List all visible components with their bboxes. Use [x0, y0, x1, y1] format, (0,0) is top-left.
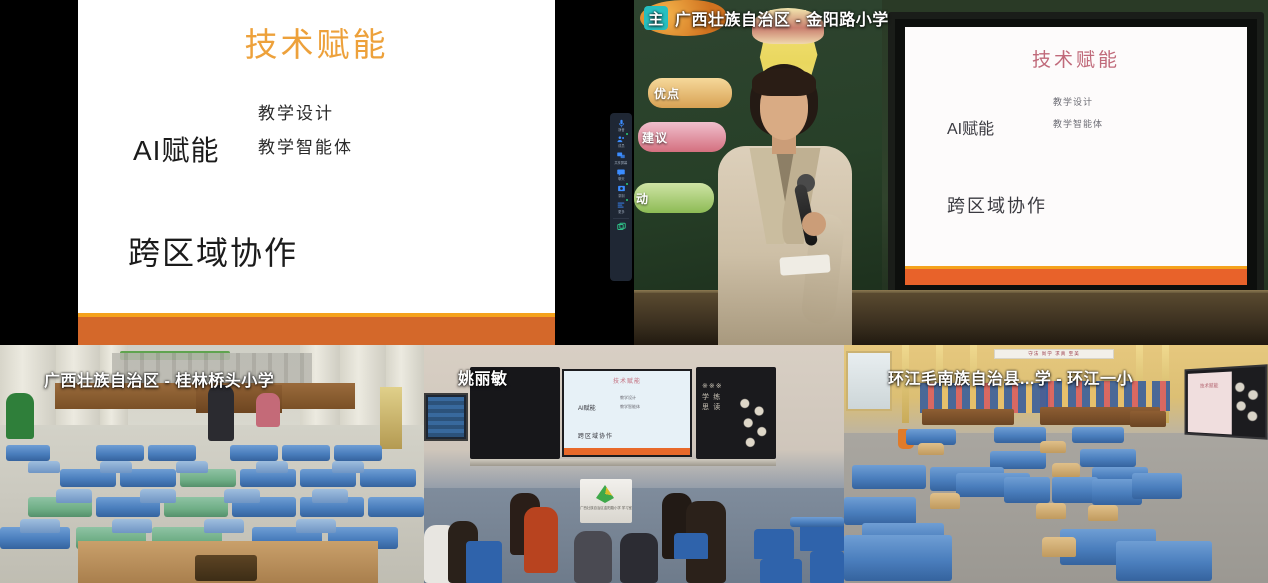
desk [844, 497, 916, 525]
laptop-on-table [195, 555, 257, 581]
person-in-black [208, 385, 234, 441]
podium: 广西壮族自治区金阳路小学 学习室 [580, 479, 632, 523]
chair [28, 461, 60, 473]
shared-slide: 技术赋能 教学设计 AI赋能 教学智能体 跨区域协作 [78, 0, 555, 345]
more-icon [616, 200, 627, 210]
share-screen-icon [616, 151, 627, 161]
record-active-dot [625, 182, 629, 186]
classroom-projection-screen: 技术赋能 教学设计 AI赋能 教学智能体 跨区域协作 [562, 369, 692, 457]
tv-chalk-dots [1231, 377, 1262, 428]
smartboard-left-heading: AI赋能 [947, 115, 994, 139]
meeting-toolbar[interactable]: 静音 成员 [610, 113, 632, 281]
smartboard-slide: 技术赋能 教学设计 AI赋能 教学智能体 跨区域协作 [905, 27, 1247, 285]
projection-bullet-1: 教学设计 [620, 395, 636, 401]
desk [1132, 473, 1182, 499]
chair [930, 493, 960, 509]
chair [466, 541, 502, 583]
toolbar-more-button[interactable]: 更多 [610, 200, 632, 214]
projection-bottom-heading: 跨区域协作 [578, 431, 613, 440]
desk [148, 445, 196, 461]
chalk-circles [738, 397, 772, 451]
teacher-figure [714, 64, 854, 345]
toolbar-record-label: 录制 [618, 195, 624, 198]
chair [754, 529, 794, 559]
teacher-hand [802, 212, 826, 236]
floor-easel [380, 387, 402, 449]
meeting-stage: 技术赋能 教学设计 AI赋能 教学智能体 跨区域协作 静音 [0, 0, 1268, 583]
projection-left-heading: AI赋能 [578, 403, 596, 412]
chair [224, 489, 260, 503]
blackboard-tag-strengths: 优点 [654, 85, 680, 102]
desk [96, 445, 144, 461]
board-tray [470, 459, 776, 466]
chair [1036, 503, 1066, 519]
projection-bullet-2: 教学智能体 [620, 404, 640, 410]
toolbar-layout-button[interactable] [610, 222, 632, 232]
slide-title: 技术赋能 [78, 18, 555, 66]
people-icon [616, 134, 627, 144]
window [846, 351, 892, 411]
chair [1042, 537, 1076, 557]
toolbar-more-label: 更多 [618, 211, 624, 214]
toolbar-share-button[interactable]: 共享屏幕 [610, 151, 632, 165]
desk [1004, 477, 1050, 503]
tv-slide-title: 技术赋能 [1188, 382, 1232, 390]
tile-teacher-camera[interactable]: 优点 建议 动 技术赋能 教学设计 AI赋能 教学智能体 跨区域协作 [634, 0, 1268, 345]
teacher-hair-front [752, 68, 816, 96]
desk [852, 465, 926, 489]
tile-label-huanjiang: 环江毛南族自治县...学 - 环江一小 [888, 365, 1133, 389]
attendee [620, 533, 658, 583]
toolbar-record-button[interactable]: 录制 [610, 184, 632, 198]
chair [112, 519, 152, 533]
chair [204, 519, 244, 533]
person-seated-front [256, 393, 280, 427]
record-icon [616, 184, 627, 194]
slide-left-heading: AI赋能 [133, 129, 219, 169]
chair [56, 489, 92, 503]
smartboard-bottom-heading: 跨区域协作 [947, 192, 1047, 218]
tile-label-guilin: 广西壮族自治区 - 桂林桥头小学 [44, 367, 274, 391]
desk [6, 445, 50, 461]
wall-banner: 守法 尚学 求真 至美 [994, 349, 1114, 359]
toolbar-participants-button[interactable]: 成员 [610, 134, 632, 148]
desk [230, 445, 278, 461]
chair [810, 551, 844, 583]
chair [1088, 505, 1118, 521]
tile-shared-screen[interactable]: 技术赋能 教学设计 AI赋能 教学智能体 跨区域协作 静音 [0, 0, 634, 345]
slide-body: 技术赋能 教学设计 AI赋能 教学智能体 跨区域协作 [78, 0, 555, 313]
desk [1080, 449, 1136, 467]
slide-footer-band [78, 317, 555, 345]
toolbar-mute-label: 静音 [618, 129, 624, 132]
toolbar-mute-button[interactable]: 静音 [610, 118, 632, 132]
chair [760, 559, 802, 583]
smartboard-slide-title: 技术赋能 [905, 45, 1247, 72]
desk [790, 517, 844, 527]
wall-banner-text: 守法 尚学 求真 至美 [995, 351, 1113, 357]
chair [176, 461, 208, 473]
observer-table [922, 409, 1014, 425]
projection-footer-band [564, 448, 690, 455]
layout-switch-icon [616, 222, 627, 232]
toolbar-divider [613, 218, 629, 219]
toolbar-chat-button[interactable]: 聊天 [610, 167, 632, 181]
desk [994, 427, 1046, 443]
chalk-writing: ※※※学 练思 读 [702, 381, 723, 413]
toolbar-share-label: 共享屏幕 [615, 162, 628, 165]
microphone-icon [616, 118, 627, 128]
toolbar-participants-label: 成员 [618, 145, 624, 148]
blackboard-right-panel: ※※※学 练思 读 [696, 367, 776, 459]
side-monitor [424, 393, 468, 441]
blackboard-tag-activity: 动 [636, 190, 649, 207]
smartboard-bullet-2: 教学智能体 [1053, 117, 1103, 130]
desk [360, 469, 416, 487]
chair [674, 533, 708, 559]
more-badge-dot [625, 198, 629, 202]
smartboard-footer-band [905, 269, 1247, 285]
chair [296, 519, 336, 533]
attendee [524, 507, 558, 573]
tile-classroom-yaolimin[interactable]: 技术赋能 教学设计 AI赋能 教学智能体 跨区域协作 ※※※学 练思 读 广西壮… [424, 345, 844, 583]
smartboard-bullet-1: 教学设计 [1053, 95, 1093, 108]
chair [332, 461, 364, 473]
chair [1040, 441, 1066, 453]
slide-bottom-heading: 跨区域协作 [128, 228, 298, 274]
observer-table [1130, 411, 1166, 427]
desk [368, 497, 424, 517]
chair [140, 489, 176, 503]
host-badge: 主 [644, 6, 668, 30]
slide-bullet-1: 教学设计 [258, 99, 334, 124]
desk [1116, 541, 1212, 581]
tile-label-teacher: 主 广西壮族自治区 - 金阳路小学 [644, 6, 889, 30]
attendee [574, 531, 612, 583]
person-in-green [6, 393, 34, 439]
chat-icon [616, 167, 627, 177]
projection-title: 技术赋能 [564, 376, 690, 385]
blackboard-tag-suggestions: 建议 [642, 129, 668, 146]
chair [918, 443, 944, 455]
slide-bullet-2: 教学智能体 [258, 133, 353, 158]
teacher-paper [779, 254, 830, 275]
chair [20, 519, 60, 533]
podium-logo-text: 广西壮族自治区金阳路小学 学习室 [580, 506, 632, 511]
desk [282, 445, 330, 461]
tile-classroom-huanjiang[interactable]: 守法 尚学 求真 至美 技术赋能 [844, 345, 1268, 583]
toolbar-chat-label: 聊天 [618, 178, 624, 181]
desk [844, 535, 952, 581]
chair [256, 461, 288, 473]
smartboard-slide-body: 技术赋能 教学设计 AI赋能 教学智能体 跨区域协作 [905, 27, 1247, 266]
tile-classroom-guilin[interactable]: 广西壮族自治区 - 桂林桥头小学 [0, 345, 424, 583]
tile-label-yaolimin: 姚丽敏 [458, 365, 508, 389]
classroom-tv: 技术赋能 [1185, 364, 1268, 440]
school-logo-icon [596, 485, 614, 503]
chair [100, 461, 132, 473]
desk [1072, 427, 1124, 443]
desk [334, 445, 382, 461]
chair [312, 489, 348, 503]
tile-label-text-teacher: 广西壮族自治区 - 金阳路小学 [675, 6, 889, 30]
classroom-smartboard: 技术赋能 教学设计 AI赋能 教学智能体 跨区域协作 [888, 12, 1264, 300]
chair [1052, 463, 1080, 477]
tv-slide: 技术赋能 [1188, 372, 1232, 435]
